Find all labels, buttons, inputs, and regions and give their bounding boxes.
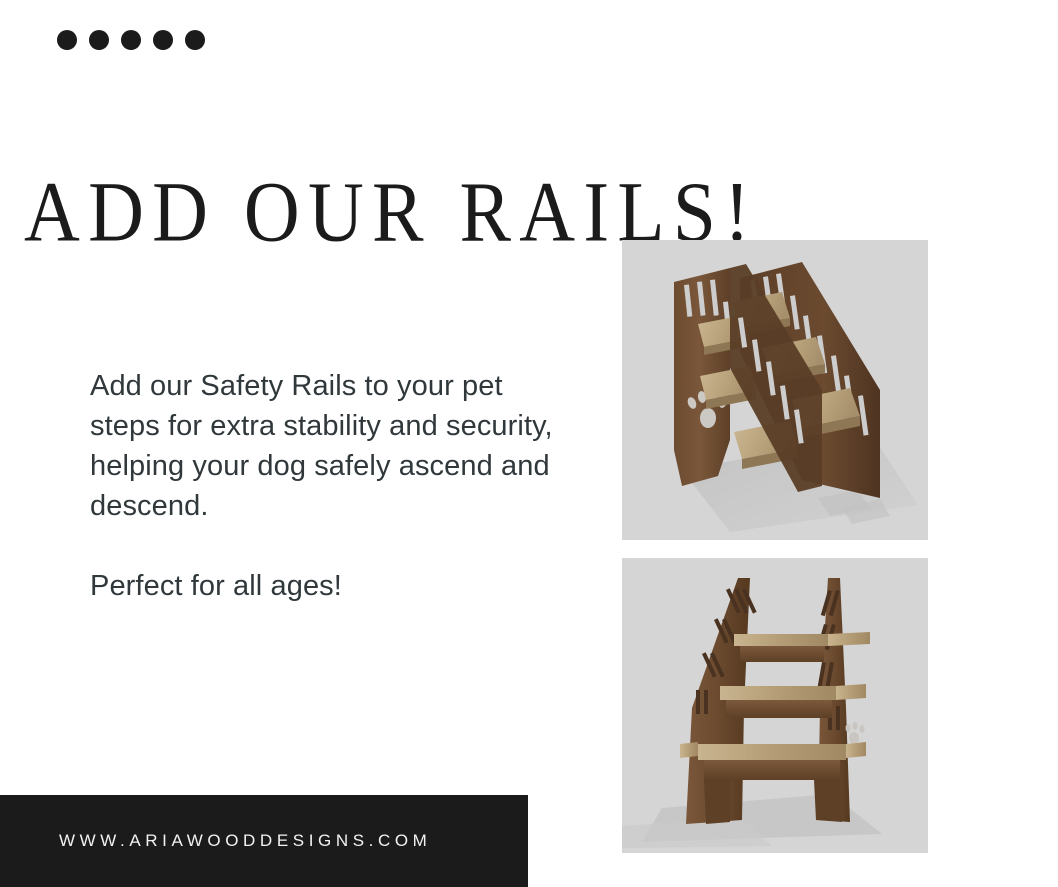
pet-steps-angled-view xyxy=(622,240,928,540)
pet-steps-angled-illustration xyxy=(622,240,928,540)
pet-steps-front-illustration xyxy=(622,558,928,853)
description-paragraph: Add our Safety Rails to your pet steps f… xyxy=(90,366,570,526)
dot-icon xyxy=(57,30,77,50)
website-url[interactable]: WWW.ARIAWOODDESIGNS.COM xyxy=(59,831,431,851)
five-dot-accent xyxy=(57,30,205,50)
tagline-paragraph: Perfect for all ages! xyxy=(90,566,570,606)
dot-icon xyxy=(153,30,173,50)
pet-steps-front-view xyxy=(622,558,928,853)
paragraph-spacer xyxy=(90,526,570,566)
body-copy: Add our Safety Rails to your pet steps f… xyxy=(90,366,570,606)
dot-icon xyxy=(89,30,109,50)
dot-icon xyxy=(185,30,205,50)
promo-page: ADD OUR RAILS! Add our Safety Rails to y… xyxy=(0,0,1058,887)
dot-icon xyxy=(121,30,141,50)
footer-bar: WWW.ARIAWOODDESIGNS.COM xyxy=(0,795,528,887)
